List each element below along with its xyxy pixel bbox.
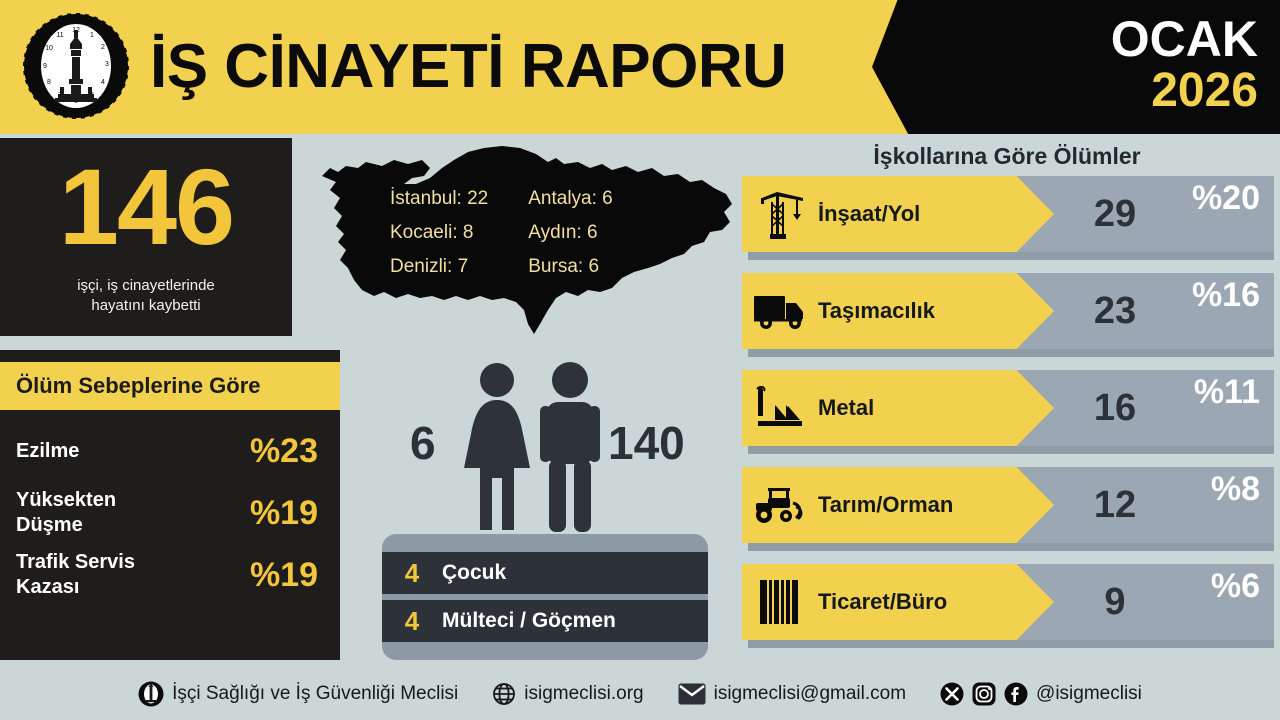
sector-bar-ticaret-buro: Ticaret/Büro 9 %6 [742,564,1274,648]
footer-org: İşçi Sağlığı ve İş Güvenliği Meclisi [138,681,458,707]
bar-fill: Tarım/Orman [742,467,1054,543]
city-item: Denizli: 7 [390,254,488,280]
sector-percent: %16 [1192,275,1260,315]
footer-website-text: isigmeclisi.org [524,683,643,705]
city-item: Kocaeli: 8 [390,220,488,246]
causes-panel: Ölüm Sebeplerine Göre Ezilme %23 Yüksekt… [0,350,340,660]
city-column-right: Antalya: 6 Aydın: 6 Bursa: 6 [528,186,613,280]
cause-label: Ezilme [16,439,79,464]
bar-fill: İnşaat/Yol [742,176,1054,252]
causes-title: Ölüm Sebeplerine Göre [0,373,261,399]
svg-text:11: 11 [56,32,63,39]
svg-text:10: 10 [45,45,53,52]
female-death-count: 6 [410,418,436,468]
cause-label: Trafik Servis Kazası [16,550,176,600]
svg-text:2: 2 [101,44,105,51]
cause-percent: %23 [250,433,318,469]
cause-row: Trafik Servis Kazası %19 [0,544,340,606]
x-twitter-icon[interactable] [940,682,964,706]
gender-sub-panel: 4 Çocuk 4 Mülteci / Göçmen [382,534,708,660]
tractor-icon [742,467,818,543]
sub-label: Mülteci / Göçmen [442,609,616,633]
total-deaths-number: 146 [0,148,292,266]
sector-label: Tarım/Orman [818,492,953,518]
sector-percent: %8 [1211,469,1260,509]
gender-breakdown: 6 140 [370,360,720,540]
footer-social: @isigmeclisi [940,682,1142,706]
sector-bar-tasimacilik: Taşımacılık 23 %16 [742,273,1274,357]
footer-email[interactable]: isigmeclisi@gmail.com [678,683,906,705]
sector-count: 29 [1060,176,1170,252]
woman-figure-icon [464,363,530,530]
footer-bar: İşçi Sağlığı ve İş Güvenliği Meclisi isi… [0,668,1280,720]
footer-handle-text: @isigmeclisi [1036,683,1142,705]
sector-count: 16 [1060,370,1170,446]
report-year: 2026 [1151,65,1258,117]
turkey-map-section: İstanbul: 22 Kocaeli: 8 Denizli: 7 Antal… [312,138,742,360]
cause-row: Ezilme %23 [0,420,340,482]
city-item: İstanbul: 22 [390,186,488,212]
sector-label: Taşımacılık [818,298,935,324]
sectors-chart: İnşaat/Yol 29 %20 [742,176,1274,661]
causes-list: Ezilme %23 Yüksekten Düşme %19 Trafik Se… [0,420,340,606]
sector-count: 12 [1060,467,1170,543]
footer-email-text: isigmeclisi@gmail.com [714,683,906,705]
sector-percent: %11 [1194,372,1260,412]
page-title: İŞ CİNAYETİ RAPORU [150,26,786,108]
sub-row-child: 4 Çocuk [382,552,708,594]
sector-percent: %20 [1192,178,1260,218]
sector-bar-metal: Metal 16 %11 [742,370,1274,454]
sub-row-refugee: 4 Mülteci / Göçmen [382,600,708,642]
svg-text:1: 1 [90,32,94,39]
total-caption-line-1: işçi, iş cinayetlerinde [0,276,292,296]
svg-text:4: 4 [101,79,105,86]
city-list: İstanbul: 22 Kocaeli: 8 Denizli: 7 Antal… [390,186,720,280]
city-item: Antalya: 6 [528,186,613,212]
factory-icon [742,370,818,446]
svg-text:9: 9 [43,63,47,70]
envelope-icon [678,683,706,705]
report-month: OCAK [1111,12,1258,66]
cause-label: Yüksekten Düşme [16,488,176,538]
svg-text:3: 3 [105,61,109,68]
footer-website[interactable]: isigmeclisi.org [492,682,643,706]
barcode-icon [742,564,818,640]
sector-bar-insaat-yol: İnşaat/Yol 29 %20 [742,176,1274,260]
header-bar: 1212 345 678 91011 [0,0,1280,134]
cause-percent: %19 [250,495,318,531]
sector-bar-tarim-orman: Tarım/Orman 12 %8 [742,467,1274,551]
cause-percent: %19 [250,557,318,593]
globe-icon [492,682,516,706]
instagram-icon[interactable] [972,682,996,706]
sectors-title: İşkollarına Göre Ölümler [742,143,1272,170]
crane-icon [742,176,818,252]
svg-text:8: 8 [47,79,51,86]
causes-panel-header: Ölüm Sebeplerine Göre [0,362,340,410]
man-figure-icon [540,362,600,532]
sector-count: 9 [1060,564,1170,640]
infographic-page: 1212 345 678 91011 [0,0,1280,720]
male-death-count: 140 [608,418,685,468]
facebook-icon[interactable] [1004,682,1028,706]
sector-label: Metal [818,395,874,421]
city-item: Bursa: 6 [528,254,613,280]
footer-org-text: İşçi Sağlığı ve İş Güvenliği Meclisi [172,683,458,705]
bar-fill: Ticaret/Büro [742,564,1054,640]
truck-icon [742,273,818,349]
sector-label: İnşaat/Yol [818,201,920,227]
total-caption-line-2: hayatını kaybetti [0,296,292,316]
sub-label: Çocuk [442,561,506,585]
isig-logo-icon [138,681,164,707]
total-deaths-panel: 146 işçi, iş cinayetlerinde hayatını kay… [0,138,292,336]
sector-label: Ticaret/Büro [818,589,947,615]
city-item: Aydın: 6 [528,220,613,246]
isig-gear-clocktower-logo-icon: 1212 345 678 91011 [22,10,130,122]
total-deaths-caption: işçi, iş cinayetlerinde hayatını kaybett… [0,276,292,316]
sub-count: 4 [382,559,442,587]
cause-row: Yüksekten Düşme %19 [0,482,340,544]
bar-fill: Taşımacılık [742,273,1054,349]
city-column-left: İstanbul: 22 Kocaeli: 8 Denizli: 7 [390,186,488,280]
bar-fill: Metal [742,370,1054,446]
sector-percent: %6 [1211,566,1260,606]
sub-count: 4 [382,607,442,635]
sector-count: 23 [1060,273,1170,349]
